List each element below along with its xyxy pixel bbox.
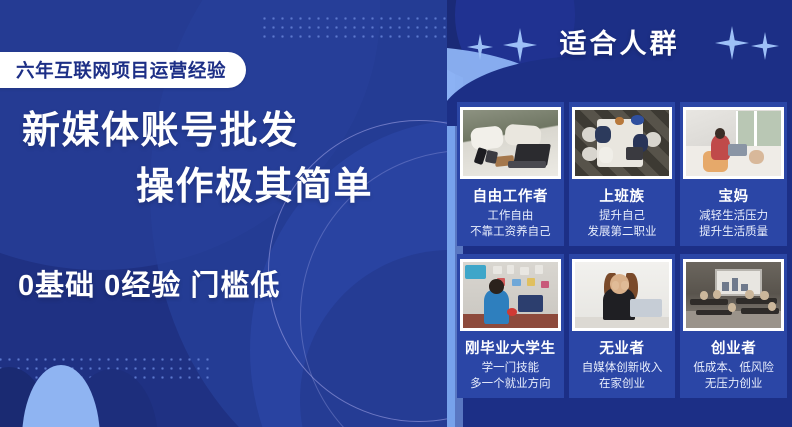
stressed-woman-at-laptop-photo — [575, 262, 670, 328]
card-subtitle: 工作自由 不靠工资养自己 — [470, 209, 551, 240]
classroom-seminar-photo — [686, 262, 781, 328]
audience-card-grid: 自由工作者 工作自由 不靠工资养自己 — [457, 102, 787, 398]
card-title: 刚毕业大学生 — [465, 337, 556, 358]
audience-card[interactable]: 创业者 低成本、低风险 无压力创业 — [680, 254, 787, 398]
card-photo-frame — [683, 259, 784, 331]
dot-grid-top — [260, 14, 447, 44]
card-subtitle: 提升自己 发展第二职业 — [587, 209, 656, 240]
card-subtitle-line-1: 自媒体创新收入 — [582, 361, 663, 377]
experience-badge-label: 六年互联网项目运营经验 — [16, 57, 226, 83]
audience-card[interactable]: 宝妈 减轻生活压力 提升生活质量 — [680, 102, 787, 246]
card-subtitle-line-1: 工作自由 — [470, 209, 551, 225]
section-title: 适合人群 — [447, 22, 792, 61]
card-photo-frame — [460, 107, 561, 179]
card-title: 自由工作者 — [473, 185, 549, 206]
right-panel: 适合人群 自由工作者 — [447, 0, 792, 427]
card-subtitle-line-1: 学一门技能 — [470, 361, 551, 377]
card-subtitle-line-1: 减轻生活压力 — [699, 209, 768, 225]
card-photo-frame — [572, 259, 673, 331]
card-subtitle: 自媒体创新收入 在家创业 — [582, 361, 663, 392]
card-title: 创业者 — [711, 337, 756, 358]
headline-line-1: 新媒体账号批发 — [0, 108, 447, 156]
experience-badge: 六年互联网项目运营经验 — [0, 52, 246, 88]
poster-root: 六年互联网项目运营经验 新媒体账号批发 操作极其简单 0基础 0经验 门槛低 适… — [0, 0, 792, 427]
card-subtitle: 减轻生活压力 提升生活质量 — [699, 209, 768, 240]
card-subtitle-line-2: 不靠工资养自己 — [470, 225, 551, 241]
student-at-desk-photo — [463, 262, 558, 328]
card-subtitle: 学一门技能 多一个就业方向 — [470, 361, 551, 392]
mother-with-laptop-on-sofa-photo — [686, 110, 781, 176]
card-subtitle-line-1: 提升自己 — [587, 209, 656, 225]
card-subtitle-line-2: 无压力创业 — [693, 377, 774, 393]
card-title: 无业者 — [599, 337, 644, 358]
card-title: 宝妈 — [719, 185, 749, 206]
laptop-on-bed-photo — [463, 110, 558, 176]
card-photo-frame — [572, 107, 673, 179]
audience-card[interactable]: 无业者 自媒体创新收入 在家创业 — [569, 254, 676, 398]
card-photo-frame — [460, 259, 561, 331]
headline-line-2: 操作极其简单 — [0, 164, 447, 212]
card-subtitle: 低成本、低风险 无压力创业 — [693, 361, 774, 392]
tagline: 0基础 0经验 门槛低 — [18, 262, 280, 304]
audience-card[interactable]: 刚毕业大学生 学一门技能 多一个就业方向 — [457, 254, 564, 398]
card-subtitle-line-2: 在家创业 — [582, 377, 663, 393]
overhead-office-meeting-photo — [575, 110, 670, 176]
headline-block: 新媒体账号批发 操作极其简单 — [0, 108, 447, 211]
card-photo-frame — [683, 107, 784, 179]
left-panel: 六年互联网项目运营经验 新媒体账号批发 操作极其简单 0基础 0经验 门槛低 — [0, 0, 447, 427]
card-subtitle-line-2: 提升生活质量 — [699, 225, 768, 241]
audience-card[interactable]: 自由工作者 工作自由 不靠工资养自己 — [457, 102, 564, 246]
card-subtitle-line-1: 低成本、低风险 — [693, 361, 774, 377]
card-title: 上班族 — [599, 185, 644, 206]
card-subtitle-line-2: 多一个就业方向 — [470, 377, 551, 393]
audience-card[interactable]: 上班族 提升自己 发展第二职业 — [569, 102, 676, 246]
card-subtitle-line-2: 发展第二职业 — [587, 225, 656, 241]
